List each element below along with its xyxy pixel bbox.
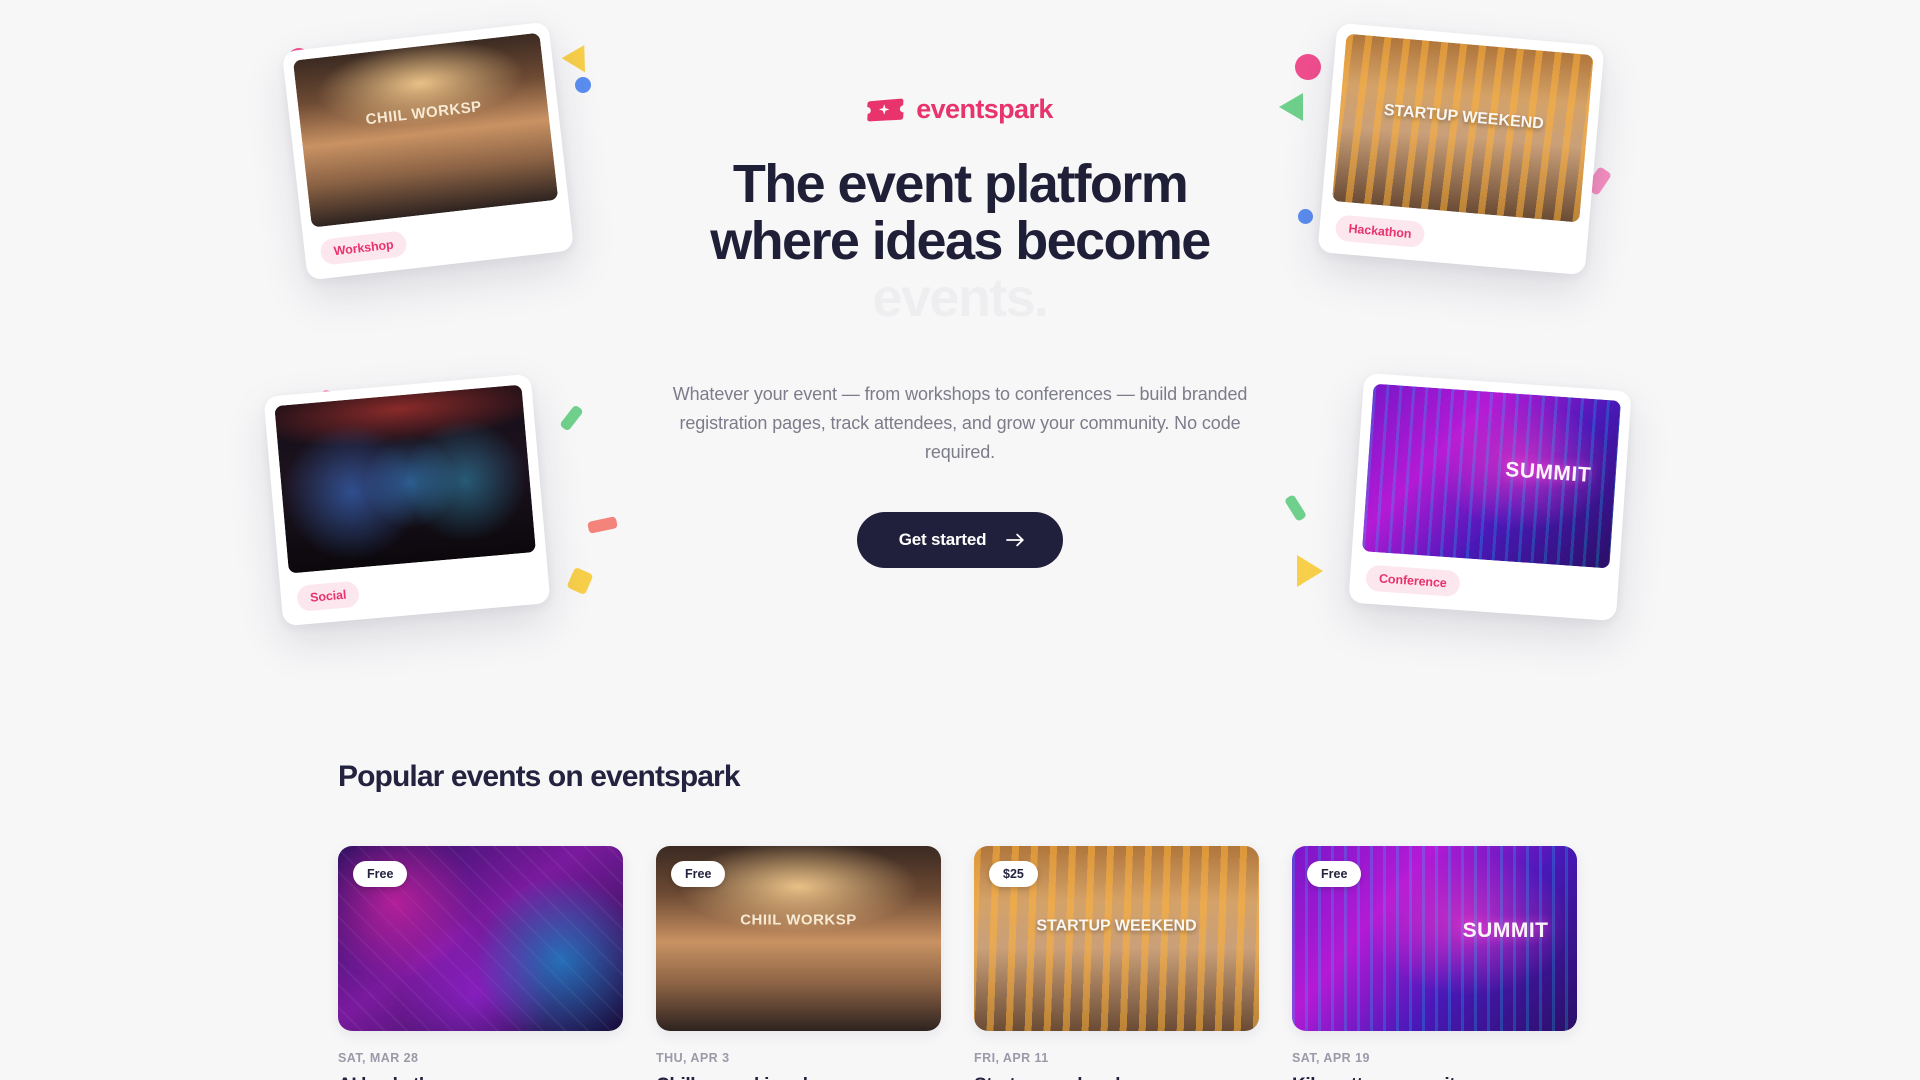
price-badge: Free bbox=[671, 861, 725, 887]
event-card[interactable]: $25 FRI, APR 11 Startup weekend bbox=[974, 846, 1259, 1080]
blue-dot-shape bbox=[1298, 209, 1313, 224]
event-card[interactable]: Free SAT, APR 19 Kilowatt community bbox=[1292, 846, 1577, 1080]
brand-logo[interactable]: eventspark bbox=[650, 96, 1270, 123]
hero-subtitle: Whatever your event — from workshops to … bbox=[650, 380, 1270, 468]
green-bar-shape bbox=[1284, 494, 1307, 522]
brand-name: eventspark bbox=[916, 96, 1053, 123]
landing-page: Workshop Hackathon Social Conference eve… bbox=[0, 0, 1920, 1080]
green-bar-shape bbox=[559, 404, 584, 431]
event-date: SAT, MAR 28 bbox=[338, 1051, 623, 1065]
event-date: FRI, APR 11 bbox=[974, 1051, 1259, 1065]
hero-card-workshop[interactable]: Workshop bbox=[282, 22, 574, 281]
event-title: Kilowatt community bbox=[1292, 1074, 1577, 1080]
price-badge: Free bbox=[353, 861, 407, 887]
yellow-triangle-shape bbox=[562, 45, 597, 79]
hero-content: eventspark The event platform where idea… bbox=[650, 96, 1270, 568]
hero-card-social[interactable]: Social bbox=[263, 374, 550, 626]
event-thumbnail[interactable]: Free bbox=[656, 846, 941, 1031]
ticket-sparkle-icon bbox=[867, 97, 905, 123]
arrow-right-icon bbox=[1006, 533, 1025, 547]
event-title: AI hackathon bbox=[338, 1074, 623, 1080]
headline-line-1: The event platform bbox=[650, 156, 1270, 213]
headline-line-2: where ideas become bbox=[650, 213, 1270, 270]
hero-card-conference[interactable]: Conference bbox=[1348, 373, 1631, 621]
yellow-triangle-shape bbox=[1297, 555, 1323, 587]
headline-line-3: events. bbox=[650, 270, 1270, 327]
hero-card-hackathon[interactable]: Hackathon bbox=[1317, 23, 1604, 275]
pink-dot-shape bbox=[1295, 54, 1321, 80]
price-badge: Free bbox=[1307, 861, 1361, 887]
hero-card-label: Social bbox=[296, 581, 360, 612]
event-title: Startup weekend bbox=[974, 1074, 1259, 1080]
popular-events-section: Popular events on eventspark Free SAT, M… bbox=[0, 760, 1920, 1080]
price-badge: $25 bbox=[989, 861, 1038, 887]
event-card-grid: Free SAT, MAR 28 AI hackathon Free THU, … bbox=[338, 846, 1920, 1080]
hero-card-photo bbox=[293, 33, 558, 228]
hero-card-label: Workshop bbox=[319, 230, 407, 266]
section-title: Popular events on eventspark bbox=[338, 760, 1920, 794]
event-date: THU, APR 3 bbox=[656, 1051, 941, 1065]
yellow-square-shape bbox=[566, 567, 593, 595]
hero-section: Workshop Hackathon Social Conference eve… bbox=[0, 0, 1920, 690]
green-triangle-shape bbox=[1279, 93, 1303, 121]
hero-card-photo bbox=[1362, 384, 1621, 569]
hero-card-label: Hackathon bbox=[1335, 214, 1426, 248]
hero-card-label: Conference bbox=[1365, 565, 1460, 597]
event-date: SAT, APR 19 bbox=[1292, 1051, 1577, 1065]
event-title: Chill coworking day bbox=[656, 1074, 941, 1080]
event-card[interactable]: Free SAT, MAR 28 AI hackathon bbox=[338, 846, 623, 1080]
event-card[interactable]: Free THU, APR 3 Chill coworking day bbox=[656, 846, 941, 1080]
event-thumbnail[interactable]: $25 bbox=[974, 846, 1259, 1031]
hero-card-photo bbox=[274, 385, 536, 574]
page-title: The event platform where ideas become ev… bbox=[650, 156, 1270, 328]
get-started-label: Get started bbox=[899, 530, 987, 550]
event-thumbnail[interactable]: Free bbox=[1292, 846, 1577, 1031]
blue-dot-shape bbox=[575, 77, 591, 93]
get-started-button[interactable]: Get started bbox=[857, 512, 1064, 568]
coral-bar-shape bbox=[587, 516, 618, 534]
event-thumbnail[interactable]: Free bbox=[338, 846, 623, 1031]
hero-card-photo bbox=[1332, 34, 1594, 223]
